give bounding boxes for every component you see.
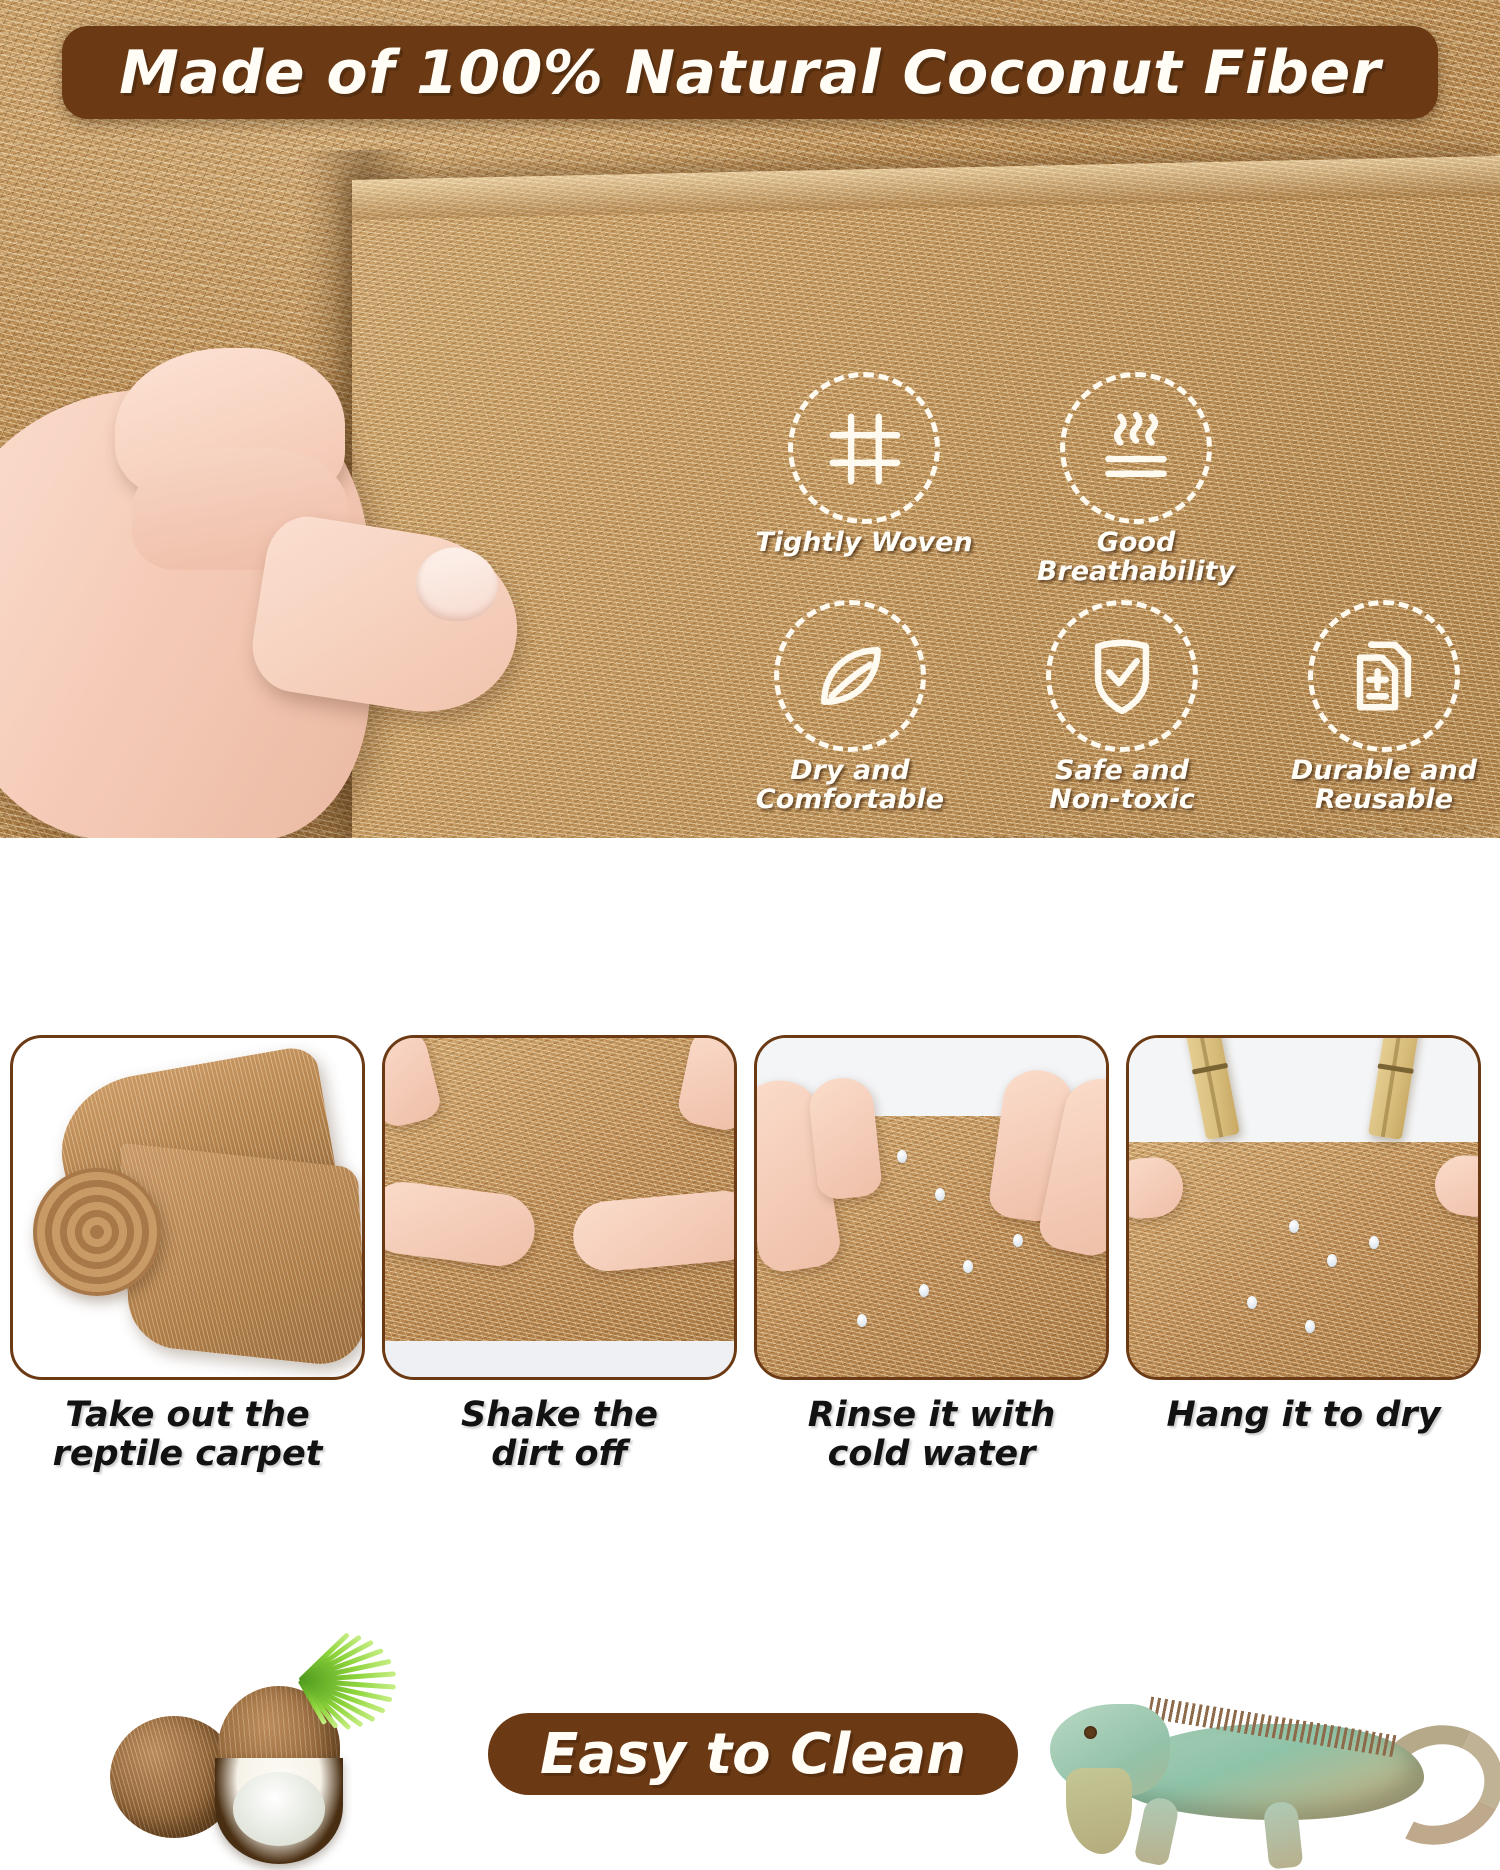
cleaning-steps-strip: Take out the reptile carpet Shake the di… bbox=[0, 1035, 1500, 1499]
caption-line2: cold water bbox=[754, 1435, 1109, 1474]
background-surface bbox=[385, 1341, 734, 1377]
feature-durable-and-reusable: Durable and Reusable bbox=[1268, 600, 1500, 814]
water-droplet bbox=[963, 1260, 973, 1273]
water-droplet bbox=[1369, 1236, 1379, 1249]
feature-icon-disc bbox=[774, 600, 926, 752]
step-4: Hang it to dry bbox=[1126, 1035, 1481, 1435]
easy-to-clean-text: Easy to Clean bbox=[540, 1722, 966, 1787]
shield-check-icon bbox=[1076, 630, 1168, 722]
hero-section: Made of 100% Natural Coconut Fiber Tight… bbox=[0, 0, 1500, 838]
caption-line1: Shake the bbox=[382, 1396, 737, 1435]
title-text: Made of 100% Natural Coconut Fiber bbox=[119, 38, 1381, 108]
feature-label: Dry and Comfortable bbox=[734, 756, 966, 814]
leaf-icon bbox=[804, 630, 896, 722]
step-2: Shake the dirt off bbox=[382, 1035, 737, 1474]
iguana-dewlap bbox=[1066, 1768, 1132, 1854]
hand-pinching-mat-photo bbox=[0, 330, 610, 838]
easy-to-clean-band: Easy to Clean bbox=[0, 838, 1500, 1035]
feature-label-line1: Dry and bbox=[734, 756, 966, 785]
feature-safe-and-non-toxic: Safe and Non-toxic bbox=[1006, 600, 1238, 814]
feature-tightly-woven: Tightly Woven bbox=[748, 372, 980, 557]
water-droplet bbox=[897, 1150, 907, 1163]
feature-label: Safe and Non-toxic bbox=[1006, 756, 1238, 814]
feature-icon-disc bbox=[1308, 600, 1460, 752]
background-surface bbox=[1129, 1038, 1478, 1142]
feature-label-line2: Reusable bbox=[1268, 785, 1500, 814]
caption-line1: Take out the bbox=[10, 1396, 365, 1435]
steam-waves-icon bbox=[1090, 402, 1182, 494]
water-droplet bbox=[919, 1284, 929, 1297]
easy-to-clean-banner: Easy to Clean bbox=[488, 1713, 1018, 1795]
feature-label: Durable and Reusable bbox=[1268, 756, 1500, 814]
water-droplet bbox=[935, 1188, 945, 1201]
feature-icon-disc bbox=[1046, 600, 1198, 752]
title-banner: Made of 100% Natural Coconut Fiber bbox=[62, 26, 1438, 119]
feature-icon-disc bbox=[1060, 372, 1212, 524]
feature-label: Good Breathability bbox=[1020, 528, 1252, 586]
layered-pages-plus-minus-icon bbox=[1338, 630, 1430, 722]
step-2-photo bbox=[382, 1035, 737, 1380]
feature-dry-and-comfortable: Dry and Comfortable bbox=[734, 600, 966, 814]
step-1-caption: Take out the reptile carpet bbox=[10, 1396, 365, 1474]
step-1: Take out the reptile carpet bbox=[10, 1035, 365, 1474]
unrolled-carpet-sheet bbox=[120, 1143, 365, 1370]
carpet-roll-spiral-end bbox=[33, 1168, 161, 1296]
step-2-caption: Shake the dirt off bbox=[382, 1396, 737, 1474]
caption-line2: dirt off bbox=[382, 1435, 737, 1474]
feature-label-line2: Non-toxic bbox=[1006, 785, 1238, 814]
feature-icon-disc bbox=[788, 372, 940, 524]
caption-line2: reptile carpet bbox=[10, 1435, 365, 1474]
feature-label-line1: Safe and bbox=[1006, 756, 1238, 785]
feature-label-line1: Durable and bbox=[1268, 756, 1500, 785]
step-4-photo bbox=[1126, 1035, 1481, 1380]
feature-label-line2: Comfortable bbox=[734, 785, 966, 814]
step-3-photo bbox=[754, 1035, 1109, 1380]
caption-line1: Hang it to dry bbox=[1126, 1396, 1481, 1435]
iguana-eye bbox=[1084, 1726, 1097, 1739]
water-droplet bbox=[1327, 1254, 1337, 1267]
water-droplet bbox=[1289, 1220, 1299, 1233]
water-droplet bbox=[1247, 1296, 1257, 1309]
caption-line1: Rinse it with bbox=[754, 1396, 1109, 1435]
step-4-caption: Hang it to dry bbox=[1126, 1396, 1481, 1435]
feature-grid: Tightly Woven Good Breathability bbox=[742, 372, 1494, 832]
water-droplet bbox=[1305, 1320, 1315, 1333]
step-1-photo bbox=[10, 1035, 365, 1380]
green-iguana-image bbox=[1022, 1686, 1492, 1866]
water-droplet bbox=[1013, 1234, 1023, 1247]
grid-hash-icon bbox=[818, 402, 910, 494]
iguana-front-leg bbox=[1134, 1795, 1181, 1867]
water-droplet bbox=[857, 1314, 867, 1327]
step-3-caption: Rinse it with cold water bbox=[754, 1396, 1109, 1474]
feature-label: Tightly Woven bbox=[748, 528, 980, 557]
palm-frond-icon bbox=[300, 1678, 480, 1833]
feature-good-breathability: Good Breathability bbox=[1020, 372, 1252, 586]
step-3: Rinse it with cold water bbox=[754, 1035, 1109, 1474]
